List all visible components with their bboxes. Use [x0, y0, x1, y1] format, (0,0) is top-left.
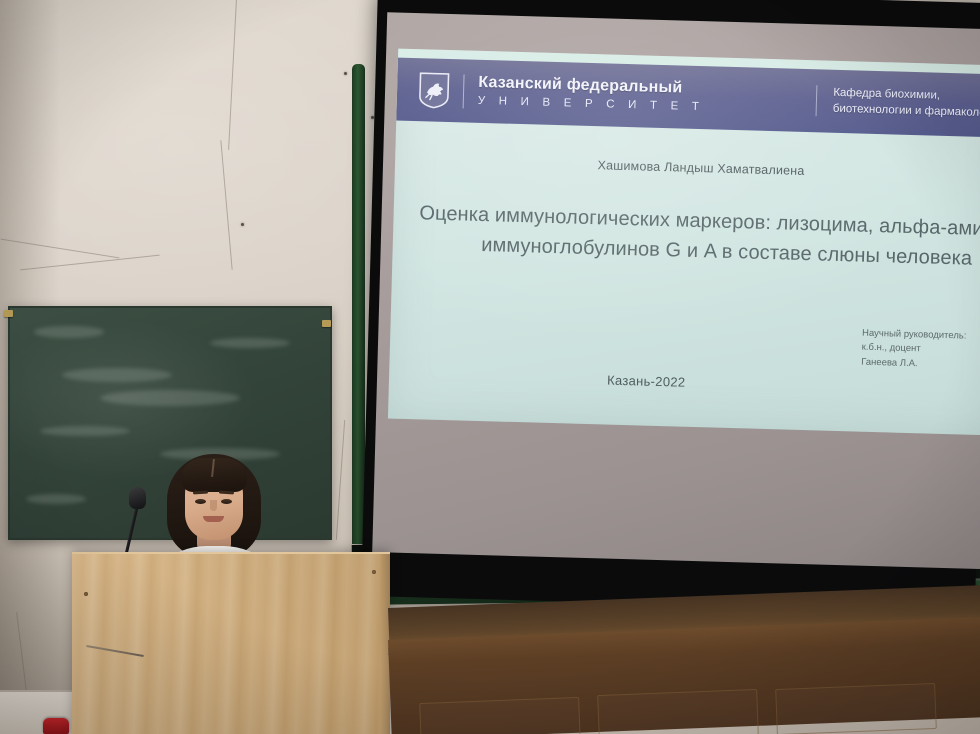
- slide-place-year: Казань-2022: [607, 373, 686, 390]
- university-name: Казанский федеральный У Н И В Е Р С И Т …: [478, 75, 705, 114]
- eye-right: [221, 499, 232, 504]
- supervisor-line3: Ганеева Л.А.: [861, 355, 966, 372]
- lecture-hall-photo: Казанский федеральный У Н И В Е Р С И Т …: [0, 0, 980, 734]
- nose: [210, 500, 217, 511]
- lectern-podium: [72, 552, 390, 734]
- department-name: Кафедра биохимии, биотехнологии и фармак…: [816, 86, 980, 122]
- microphone-icon: [129, 487, 146, 509]
- eye-left: [195, 499, 206, 504]
- nail-hole: [241, 223, 244, 226]
- slide-supervisor: Научный руководитель: к.б.н., доцент Ган…: [861, 327, 967, 373]
- board-clip: [322, 320, 331, 327]
- screen-surface: Казанский федеральный У Н И В Е Р С И Т …: [372, 12, 980, 569]
- desk-panel: [419, 697, 581, 734]
- nail-hole: [344, 72, 347, 75]
- slide-title: Оценка иммунологических маркеров: лизоци…: [402, 199, 980, 276]
- header-divider: [463, 74, 465, 108]
- podium-screw: [84, 592, 88, 596]
- presentation-slide: Казанский федеральный У Н И В Е Р С И Т …: [388, 49, 980, 436]
- podium-screw: [372, 570, 376, 574]
- mouth: [203, 516, 224, 522]
- green-post: [352, 64, 365, 544]
- department-line2: биотехнологии и фармакологии: [833, 101, 980, 121]
- desk-panel: [597, 689, 759, 734]
- desk-panel: [775, 683, 937, 734]
- projection-screen: Казанский федеральный У Н И В Е Р С И Т …: [361, 0, 980, 613]
- red-object: [43, 718, 69, 734]
- kfu-coat-of-arms-icon: [419, 72, 450, 109]
- board-clip: [4, 310, 13, 317]
- slide-author: Хашимова Ландыш Хаматвалиена: [395, 153, 980, 184]
